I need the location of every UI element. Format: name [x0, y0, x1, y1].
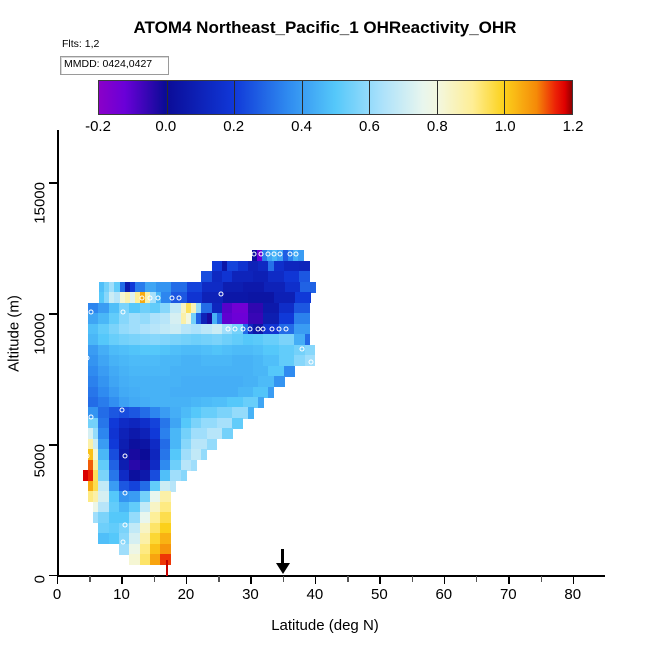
heatmap-cell [223, 282, 244, 293]
heatmap-cell [129, 345, 140, 356]
heatmap-cell [258, 397, 264, 408]
heatmap-cell [119, 355, 130, 366]
heatmap-cell [181, 387, 192, 398]
heatmap-cell [181, 407, 192, 418]
heatmap-cell [222, 313, 233, 324]
heatmap-cell [129, 491, 140, 502]
heatmap-cell [98, 303, 109, 314]
data-point-marker [272, 252, 277, 257]
heatmap-cell [109, 387, 120, 398]
data-point-marker [219, 291, 224, 296]
heatmap-cell [212, 303, 223, 314]
heatmap-cell [207, 439, 218, 450]
heatmap-cell [191, 334, 202, 345]
heatmap-cell [243, 397, 259, 408]
heatmap-cell [191, 387, 202, 398]
heatmap-cell [119, 397, 130, 408]
data-point-marker [123, 453, 128, 458]
heatmap-cell [217, 418, 233, 429]
heatmap-cell [160, 481, 171, 492]
heatmap-cell [170, 355, 181, 366]
x-axis-major-tick [315, 576, 316, 584]
colorbar[interactable] [98, 80, 573, 115]
heatmap-cell [160, 324, 171, 335]
heatmap-cell [129, 470, 140, 481]
heatmap-cell [279, 334, 295, 345]
heatmap-cell [232, 303, 248, 314]
data-point-marker [122, 273, 127, 278]
heatmap-cell [170, 387, 181, 398]
heatmap-cell [140, 470, 151, 481]
x-axis-minor-tick [347, 576, 348, 582]
data-point-marker [225, 326, 230, 331]
heatmap-cell [160, 491, 171, 502]
heatmap-cell [129, 523, 140, 534]
heatmap-cell [279, 303, 295, 314]
heatmap-cell [98, 418, 109, 429]
heatmap-cell [294, 313, 310, 324]
heatmap-cell [170, 345, 181, 356]
heatmap-cell [129, 355, 140, 366]
heatmap-cell [140, 324, 151, 335]
heatmap-cell [264, 282, 285, 293]
heatmap-cell [232, 313, 248, 324]
heatmap-cell [160, 376, 171, 387]
y-axis-line [57, 130, 59, 576]
colorbar-separator [504, 81, 505, 114]
heatmap-cell [279, 313, 295, 324]
heatmap-cell [150, 439, 161, 450]
heatmap-cell [160, 366, 171, 377]
heatmap-cell [201, 387, 212, 398]
heatmap-cell [98, 439, 109, 450]
heatmap-cell [170, 460, 181, 471]
heatmap-cell [88, 334, 99, 345]
heatmap-cell [248, 407, 254, 418]
heatmap-cell [119, 376, 130, 387]
heatmap-cell [109, 355, 120, 366]
heatmap-cell [191, 366, 202, 377]
heatmap-cell [140, 407, 151, 418]
data-point-marker [309, 359, 314, 364]
data-point-marker [120, 309, 125, 314]
heatmap-cell [150, 418, 161, 429]
heatmap-cell [170, 376, 181, 387]
x-axis-title: Latitude (deg N) [0, 617, 650, 634]
heatmap-cell [191, 355, 202, 366]
heatmap-cell [238, 387, 254, 398]
heatmap-cell [98, 481, 109, 492]
heatmap-cell [170, 324, 181, 335]
heatmap-cell [181, 345, 192, 356]
heatmap-cell [88, 324, 99, 335]
heatmap-cell [150, 303, 161, 314]
heatmap-cell [232, 271, 253, 282]
heatmap-cell [279, 345, 295, 356]
heatmap-cell [299, 261, 310, 272]
heatmap-cell [181, 355, 192, 366]
curtain-plot-area[interactable] [57, 130, 605, 575]
x-axis-minor-tick [476, 576, 477, 582]
heatmap-cell [150, 491, 161, 502]
heatmap-cell [119, 418, 130, 429]
data-point-marker [258, 252, 263, 257]
x-axis-major-tick [121, 576, 122, 584]
heatmap-cell [160, 460, 171, 471]
heatmap-cell [109, 428, 120, 439]
heatmap-cell [140, 366, 151, 377]
heatmap-cell [109, 418, 120, 429]
x-axis-minor-tick [412, 576, 413, 582]
data-point-marker [265, 252, 270, 257]
heatmap-cell [263, 313, 279, 324]
heatmap-cell [191, 376, 202, 387]
heatmap-cell [212, 355, 223, 366]
heatmap-cell [98, 355, 109, 366]
heatmap-cell [129, 376, 140, 387]
heatmap-cell [170, 366, 181, 377]
x-axis-minor-tick [89, 576, 90, 582]
heatmap-cell [140, 387, 151, 398]
heatmap-cell [150, 502, 161, 513]
heatmap-cell [201, 334, 212, 345]
heatmap-cell [129, 502, 140, 513]
heatmap-cell [258, 261, 269, 272]
heatmap-cell [181, 460, 192, 471]
heatmap-cell [129, 397, 140, 408]
heatmap-cell [201, 376, 212, 387]
heatmap-cell [150, 376, 161, 387]
heatmap-cell [284, 271, 300, 282]
heatmap-cell [160, 345, 171, 356]
heatmap-cell [140, 460, 151, 471]
y-axis-ticklabel: 0 [32, 575, 49, 583]
heatmap-cell [294, 355, 305, 366]
heatmap-cell [160, 397, 171, 408]
heatmap-cell [109, 303, 120, 314]
data-point-marker [147, 295, 152, 300]
x-axis-ticklabel: 70 [500, 586, 517, 603]
heatmap-cell [88, 387, 99, 398]
x-axis-minor-tick [218, 576, 219, 582]
heatmap-cell [243, 334, 254, 345]
heatmap-cell [284, 261, 300, 272]
heatmap-cell [109, 491, 120, 502]
heatmap-cell [150, 523, 161, 534]
heatmap-cell [109, 449, 120, 460]
heatmap-cell [140, 491, 151, 502]
heatmap-cell [98, 523, 109, 534]
heatmap-cell [150, 366, 161, 377]
heatmap-cell [150, 334, 161, 345]
heatmap-cell [212, 271, 223, 282]
heatmap-cell [98, 428, 109, 439]
heatmap-cell [170, 313, 181, 324]
heatmap-cell [222, 387, 238, 398]
heatmap-cell [243, 345, 254, 356]
heatmap-cell [140, 502, 151, 513]
heatmap-cell [279, 355, 295, 366]
heatmap-cell [170, 397, 181, 408]
heatmap-cell [160, 428, 171, 439]
heatmap-cell [140, 439, 151, 450]
heatmap-cell [191, 418, 202, 429]
y-axis-tick [49, 182, 57, 183]
heatmap-cell [98, 449, 109, 460]
heatmap-cell [253, 334, 264, 345]
heatmap-cell [150, 428, 161, 439]
heatmap-cell [150, 355, 161, 366]
heatmap-cell [140, 397, 151, 408]
heatmap-cell [109, 334, 120, 345]
heatmap-cell [119, 345, 130, 356]
heatmap-cell [191, 428, 207, 439]
heatmap-cell [140, 428, 151, 439]
heatmap-cell [274, 376, 285, 387]
heatmap-cell [140, 523, 151, 534]
heatmap-cell [248, 303, 264, 314]
heatmap-cell [140, 481, 151, 492]
heatmap-cell [150, 470, 161, 481]
heatmap-cell [243, 376, 259, 387]
heatmap-cell [150, 407, 161, 418]
y-axis-ticklabel: 5000 [32, 444, 49, 477]
heatmap-cell [170, 481, 176, 492]
heatmap-cell [88, 397, 99, 408]
data-point-marker [240, 326, 245, 331]
heatmap-cell [238, 261, 249, 272]
data-point-marker [299, 346, 304, 351]
x-axis-minor-tick [541, 576, 542, 582]
colorbar-separator [167, 81, 168, 114]
heatmap-cell [212, 366, 223, 377]
heatmap-cell [212, 334, 223, 345]
heatmap-cell [140, 345, 151, 356]
heatmap-cell [181, 418, 192, 429]
heatmap-cell [109, 397, 120, 408]
data-point-marker [84, 355, 89, 360]
mmdd-label: MMDD: 0424,0427 [64, 58, 152, 70]
heatmap-cell [129, 303, 140, 314]
heatmap-cell [299, 271, 310, 282]
heatmap-cell [222, 334, 233, 345]
heatmap-cell [150, 324, 161, 335]
data-point-marker [89, 309, 94, 314]
heatmap-cell [181, 376, 192, 387]
data-point-marker [261, 326, 266, 331]
data-point-marker [121, 540, 126, 545]
heatmap-cell [150, 533, 161, 544]
heatmap-cell [98, 324, 109, 335]
heatmap-cell [98, 334, 109, 345]
heatmap-cell [248, 261, 259, 272]
heatmap-cell [160, 544, 171, 555]
heatmap-cell [191, 460, 197, 471]
heatmap-cell [129, 407, 140, 418]
heatmap-cell [295, 292, 311, 303]
data-point-marker [287, 252, 292, 257]
heatmap-cell [88, 376, 99, 387]
heatmap-cell [232, 345, 243, 356]
heatmap-cell [181, 324, 192, 335]
colorbar-separator [234, 81, 235, 114]
heatmap-cell [232, 334, 243, 345]
heatmap-cell [181, 449, 192, 460]
heatmap-cell [170, 428, 181, 439]
heatmap-cell [191, 439, 207, 450]
heatmap-cell [222, 376, 233, 387]
heatmap-cell [98, 397, 109, 408]
heatmap-cell [98, 376, 109, 387]
heatmap-cell [109, 376, 120, 387]
heatmap-cell [212, 397, 228, 408]
heatmap-cell [98, 313, 109, 324]
heatmap-cell [129, 554, 140, 565]
heatmap-cell [212, 324, 223, 335]
heatmap-cell [212, 376, 223, 387]
heatmap-cell [150, 512, 161, 523]
y-axis-tick [49, 313, 57, 314]
data-point-marker [133, 273, 138, 278]
heatmap-cell [140, 303, 151, 314]
heatmap-cell [294, 303, 310, 314]
heatmap-cell [129, 366, 140, 377]
heatmap-cell [140, 533, 151, 544]
heatmap-cell [129, 449, 140, 460]
colorbar-separator [437, 81, 438, 114]
x-axis-major-tick [508, 576, 509, 584]
heatmap-cell [160, 387, 171, 398]
data-point-marker [169, 295, 174, 300]
heatmap-cell [119, 460, 130, 471]
heatmap-cell [305, 334, 311, 345]
heatmap-cell [135, 282, 146, 293]
heatmap-cell [145, 282, 156, 293]
heatmap-cell [181, 428, 192, 439]
heatmap-cell [263, 303, 279, 314]
heatmap-cell [140, 554, 151, 565]
heatmap-cell [140, 512, 151, 523]
x-axis-minor-tick [283, 576, 284, 582]
flights-label: Flts: 1,2 [62, 38, 99, 50]
heatmap-cell [170, 418, 181, 429]
x-axis-line [57, 575, 605, 577]
heatmap-cell [201, 324, 212, 335]
data-point-marker [84, 523, 89, 528]
heatmap-cell [243, 355, 254, 366]
heatmap-cell [160, 418, 171, 429]
heatmap-cell [207, 428, 223, 439]
data-point-marker [177, 295, 182, 300]
heatmap-cell [109, 366, 120, 377]
heatmap-cell [187, 292, 203, 303]
heatmap-cell [160, 449, 171, 460]
heatmap-cell [109, 345, 120, 356]
heatmap-cell [129, 512, 140, 523]
heatmap-cell [88, 418, 99, 429]
data-point-marker [278, 252, 283, 257]
heatmap-cell [223, 292, 249, 303]
heatmap-cell [98, 491, 109, 502]
heatmap-cell [201, 418, 217, 429]
heatmap-cell [109, 439, 120, 450]
heatmap-cell [109, 313, 120, 324]
heatmap-cell [129, 544, 140, 555]
heatmap-cell [150, 481, 161, 492]
heatmap-cell [129, 460, 140, 471]
heatmap-cell [119, 512, 130, 523]
data-point-marker [140, 295, 145, 300]
data-point-marker [88, 414, 93, 419]
data-point-marker [269, 326, 274, 331]
heatmap-cell [119, 428, 130, 439]
data-point-marker [100, 273, 105, 278]
heatmap-cell [274, 261, 285, 272]
heatmap-cell [181, 366, 192, 377]
heatmap-cell [253, 387, 269, 398]
heatmap-cell [150, 554, 161, 565]
heatmap-cell [201, 303, 212, 314]
heatmap-cell [268, 366, 284, 377]
data-point-marker [283, 326, 288, 331]
heatmap-cell [263, 334, 279, 345]
heatmap-cell [201, 355, 212, 366]
heatmap-cell [119, 502, 130, 513]
data-point-marker [84, 453, 89, 458]
heatmap-cell [201, 397, 212, 408]
heatmap-cell [191, 407, 202, 418]
heatmap-cell [129, 324, 140, 335]
heatmap-cell [171, 282, 187, 293]
y-axis-ticklabel: 15000 [32, 182, 49, 224]
heatmap-cell [227, 261, 238, 272]
data-point-marker [255, 326, 260, 331]
y-axis-ticklabel: 10000 [32, 313, 49, 355]
heatmap-cell [150, 460, 161, 471]
heatmap-cell [109, 470, 120, 481]
heatmap-cell [140, 355, 151, 366]
x-axis-major-tick [250, 576, 251, 584]
x-axis-major-tick [444, 576, 445, 584]
data-point-marker [232, 326, 237, 331]
heatmap-cell [181, 439, 192, 450]
heatmap-cell [109, 533, 120, 544]
heatmap-cell [201, 449, 207, 460]
latitude-marker-arrow-head [276, 563, 290, 574]
heatmap-cell [150, 313, 161, 324]
data-point-marker [294, 252, 299, 257]
heatmap-cell [181, 397, 192, 408]
heatmap-cell [119, 470, 130, 481]
x-axis-major-tick [573, 576, 574, 584]
heatmap-cell [160, 334, 171, 345]
heatmap-cell [150, 449, 161, 460]
heatmap-cell [227, 397, 243, 408]
heatmap-cell [98, 366, 109, 377]
heatmap-cell [243, 366, 254, 377]
heatmap-cell [232, 418, 243, 429]
heatmap-cell [140, 376, 151, 387]
heatmap-cell [243, 282, 264, 293]
heatmap-cell [181, 470, 187, 481]
heatmap-cell [248, 292, 274, 303]
heatmap-cell [222, 428, 233, 439]
heatmap-cell [129, 428, 140, 439]
heatmap-cell [160, 502, 171, 513]
heatmap-cell [98, 407, 109, 418]
heatmap-cell [160, 533, 171, 544]
heatmap-cell [268, 271, 284, 282]
